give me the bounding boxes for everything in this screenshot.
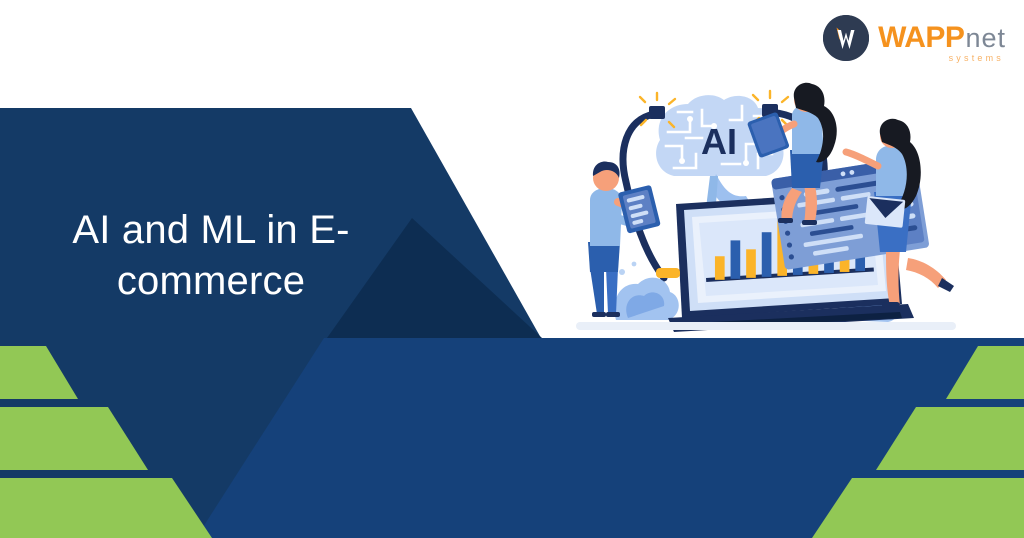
banner-root: WAPP net systems AI and ML in E-commerce: [0, 0, 1024, 538]
logo-tagline: systems: [949, 54, 1004, 63]
bar-1: [715, 256, 725, 280]
ground-line: [576, 322, 956, 330]
bar-4: [762, 232, 772, 277]
bar-2: [731, 240, 741, 278]
banner-headline: AI and ML in E-commerce: [36, 205, 386, 307]
wappnet-wordmark: WAPP net systems: [878, 23, 1006, 53]
logo-word-secondary: net: [965, 25, 1006, 52]
logo-word-primary: WAPP: [878, 23, 964, 53]
wappnet-w-monogram-icon: [823, 15, 869, 61]
brain-label-ai: AI: [701, 121, 737, 162]
bar-3: [746, 249, 756, 278]
ai-ml-ecommerce-illustration: AI: [556, 72, 976, 342]
wappnet-logo[interactable]: WAPP net systems: [823, 12, 1006, 64]
